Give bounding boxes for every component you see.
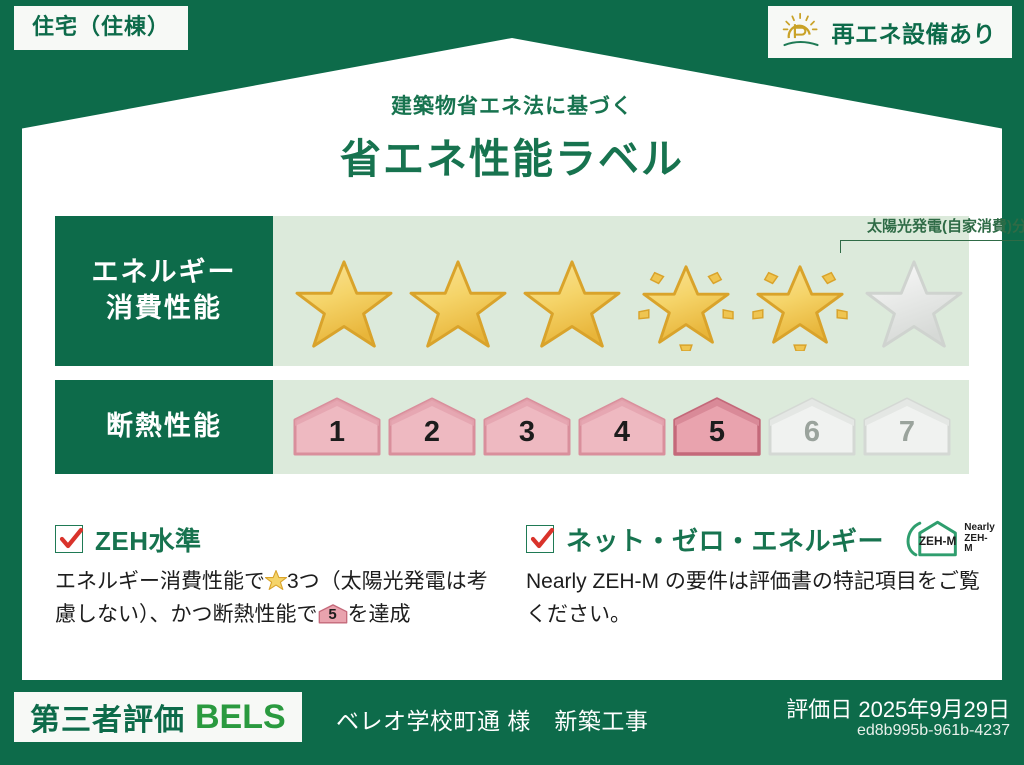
insulation-performance-row: 断熱性能 1 2 [55, 380, 969, 474]
star-filled-icon [523, 257, 621, 351]
insulation-house-3: 3 [481, 396, 573, 458]
zeh-standard-header: ZEH水準 [55, 520, 488, 558]
star-filled-sparkle-icon [637, 257, 735, 351]
solar-sun-icon [780, 12, 822, 52]
insulation-label-text: 断熱性能 [106, 409, 222, 445]
insulation-house-number: 1 [329, 416, 345, 458]
star-slot-1 [287, 252, 401, 356]
star-filled-icon [295, 257, 393, 351]
label-title: 省エネ性能ラベル [0, 125, 1024, 185]
zeh-m-house-icon: ZEH-M [902, 519, 961, 559]
star-empty-icon [865, 257, 963, 351]
insulation-house-1: 1 [291, 396, 383, 458]
evaluation-date: 評価日 2025年9月29日 [786, 692, 1010, 724]
star-slot-3 [515, 252, 629, 356]
solar-generation-note: 太陽光発電(自家消費)分 [840, 215, 1024, 236]
insulation-house-number: 4 [614, 416, 630, 458]
net-zero-energy-checkbox[interactable] [526, 525, 554, 553]
star-rating [273, 250, 969, 358]
energy-performance-row: エネルギー 消費性能 太陽光発電(自家消費)分 [55, 216, 969, 366]
zeh-m-logo: ZEH-M Nearly ZEH-M [902, 519, 996, 559]
insulation-house-6: 6 [766, 396, 858, 458]
net-zero-energy-note: ネット・ゼロ・エネルギー ZEH-M Nearly ZEH-M Nearly Z… [512, 520, 1020, 631]
zeh-standard-note: ZEH水準 エネルギー消費性能で3つ（太陽光発電は考慮しない）、かつ断熱性能で5… [55, 520, 512, 631]
inline-house-number: 5 [318, 603, 348, 625]
check-icon [529, 526, 555, 552]
zeh-m-sub-line2: ZEH-M [964, 534, 995, 555]
criteria-notes: ZEH水準 エネルギー消費性能で3つ（太陽光発電は考慮しない）、かつ断熱性能で5… [55, 520, 969, 631]
energy-performance-body: 太陽光発電(自家消費)分 [273, 216, 969, 366]
energy-label-line1: エネルギー [92, 255, 237, 291]
energy-performance-label: エネルギー 消費性能 [55, 216, 273, 366]
property-name: ベレオ学校町通 様 新築工事 [336, 702, 648, 736]
insulation-house-number: 6 [804, 416, 820, 458]
svg-text:ZEH-M: ZEH-M [919, 534, 957, 548]
bels-en-label: BELS [195, 698, 286, 737]
footer: 第三者評価 BELS ベレオ学校町通 様 新築工事 評価日 2025年9月29日… [0, 680, 1024, 765]
insulation-performance-body: 1 2 3 [273, 380, 969, 474]
insulation-house-number: 2 [424, 416, 440, 458]
insulation-house-7: 7 [861, 396, 953, 458]
zeh-standard-body: エネルギー消費性能で3つ（太陽光発電は考慮しない）、かつ断熱性能で5を達成 [55, 566, 488, 631]
insulation-house-2: 2 [386, 396, 478, 458]
insulation-house-4: 4 [576, 396, 668, 458]
insulation-level-scale: 1 2 3 [273, 380, 969, 474]
energy-label-root: 住宅（住棟） 再エネ設備あり 建築物省エネ法に基づ [0, 0, 1024, 765]
insulation-performance-label: 断熱性能 [55, 380, 273, 474]
zeh-body-part3: を達成 [348, 603, 411, 626]
star-icon [265, 569, 287, 591]
star-slot-4 [629, 252, 743, 356]
insulation-house-number: 7 [899, 416, 915, 458]
label-subtitle: 建築物省エネ法に基づく [0, 90, 1024, 120]
zeh-body-part1: エネルギー消費性能で [55, 570, 265, 593]
net-zero-energy-title: ネット・ゼロ・エネルギー [566, 521, 884, 558]
bels-plate: 第三者評価 BELS [14, 692, 302, 742]
zeh-standard-title: ZEH水準 [95, 521, 202, 558]
renewable-equipment-badge: 再エネ設備あり [768, 6, 1013, 58]
insulation-house-number: 5 [709, 416, 725, 458]
insulation-house-number: 3 [519, 416, 535, 458]
star-filled-icon [409, 257, 507, 351]
renewable-badge-label: 再エネ設備あり [832, 15, 997, 49]
bels-jp-label: 第三者評価 [30, 695, 185, 739]
star-slot-2 [401, 252, 515, 356]
star-filled-sparkle-icon [751, 257, 849, 351]
inline-insulation-house: 5 [318, 603, 348, 625]
evaluation-id: ed8b995b-961b-4237 [857, 722, 1010, 740]
check-icon [58, 526, 84, 552]
star-slot-5 [743, 252, 857, 356]
net-zero-energy-body: Nearly ZEH-M の要件は評価書の特記項目をご覧ください。 [526, 566, 996, 631]
insulation-house-5-current: 5 [671, 396, 763, 458]
star-slot-6 [857, 252, 971, 356]
zeh-standard-checkbox[interactable] [55, 525, 83, 553]
energy-label-line2: 消費性能 [106, 291, 222, 327]
building-type-tag: 住宅（住棟） [14, 6, 188, 50]
net-zero-energy-header: ネット・ゼロ・エネルギー ZEH-M Nearly ZEH-M [526, 520, 996, 558]
